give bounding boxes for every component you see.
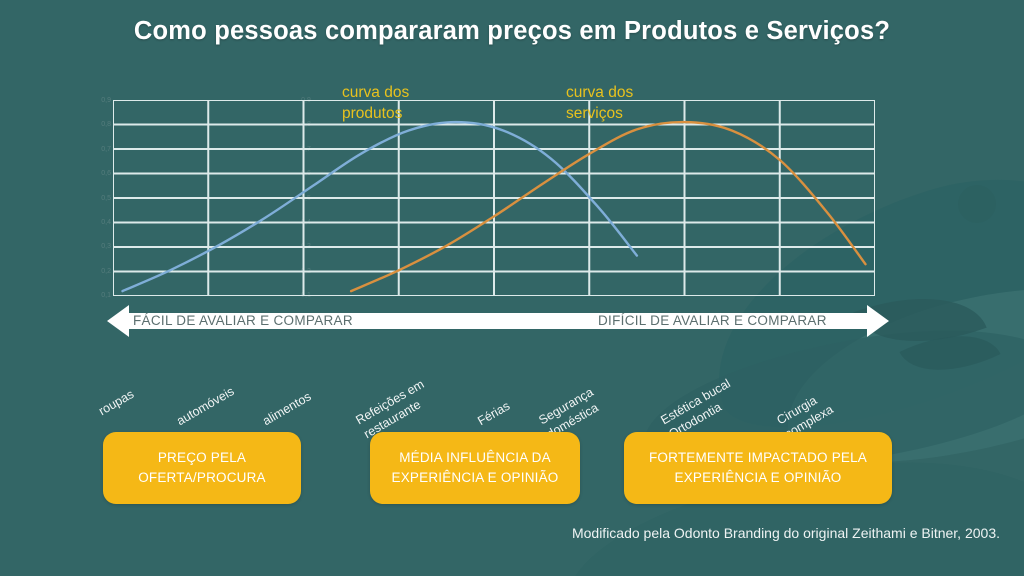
y-tick: 0,7 <box>101 146 111 153</box>
products-curve-path <box>123 122 637 291</box>
category-label-0: roupas <box>96 387 137 420</box>
chart-curves <box>113 100 875 296</box>
arrow-label-hard: DIFÍCIL DE AVALIAR E COMPARAR <box>598 313 827 328</box>
segment-box-price-supply-demand[interactable]: PREÇO PELA OFERTA/PROCURA <box>103 432 301 504</box>
slide-title: Como pessoas compararam preços em Produt… <box>0 17 1024 46</box>
slide-canvas: Como pessoas compararam preços em Produt… <box>0 0 1024 576</box>
background-leaf-decoration <box>899 313 1000 394</box>
segment-box-strong-influence[interactable]: FORTEMENTE IMPACTADO PELA EXPERIÊNCIA E … <box>624 432 892 504</box>
chart-plot-area <box>113 100 875 296</box>
category-label-4: Férias <box>475 399 513 430</box>
category-label-1: automóveis <box>174 384 237 430</box>
source-credit: Modificado pela Odonto Branding do origi… <box>0 525 1000 541</box>
arrow-label-easy: FÁCIL DE AVALIAR E COMPARAR <box>133 313 353 328</box>
category-label-2: alimentos <box>260 389 314 429</box>
y-tick: 0,5 <box>101 195 111 202</box>
segment-box-medium-influence[interactable]: MÉDIA INFLUÊNCIA DA EXPERIÊNCIA E OPINIÃ… <box>370 432 580 504</box>
y-tick: 0,2 <box>101 268 111 275</box>
background-circle-decoration <box>958 185 996 223</box>
y-tick: 0,1 <box>101 292 111 299</box>
y-tick: 0,4 <box>101 219 111 226</box>
y-tick: 0,6 <box>101 170 111 177</box>
y-tick: 0,9 <box>101 97 111 104</box>
services-curve-path <box>351 122 865 291</box>
products-curve-label: curva dos produtos <box>342 82 409 125</box>
services-curve-label: curva dos serviços <box>566 82 633 125</box>
y-tick: 0,3 <box>101 243 111 250</box>
y-tick: 0,8 <box>101 121 111 128</box>
y-axis-tick-labels: 0,9 0,8 0,7 0,6 0,5 0,4 0,3 0,2 0,1 <box>75 97 111 299</box>
